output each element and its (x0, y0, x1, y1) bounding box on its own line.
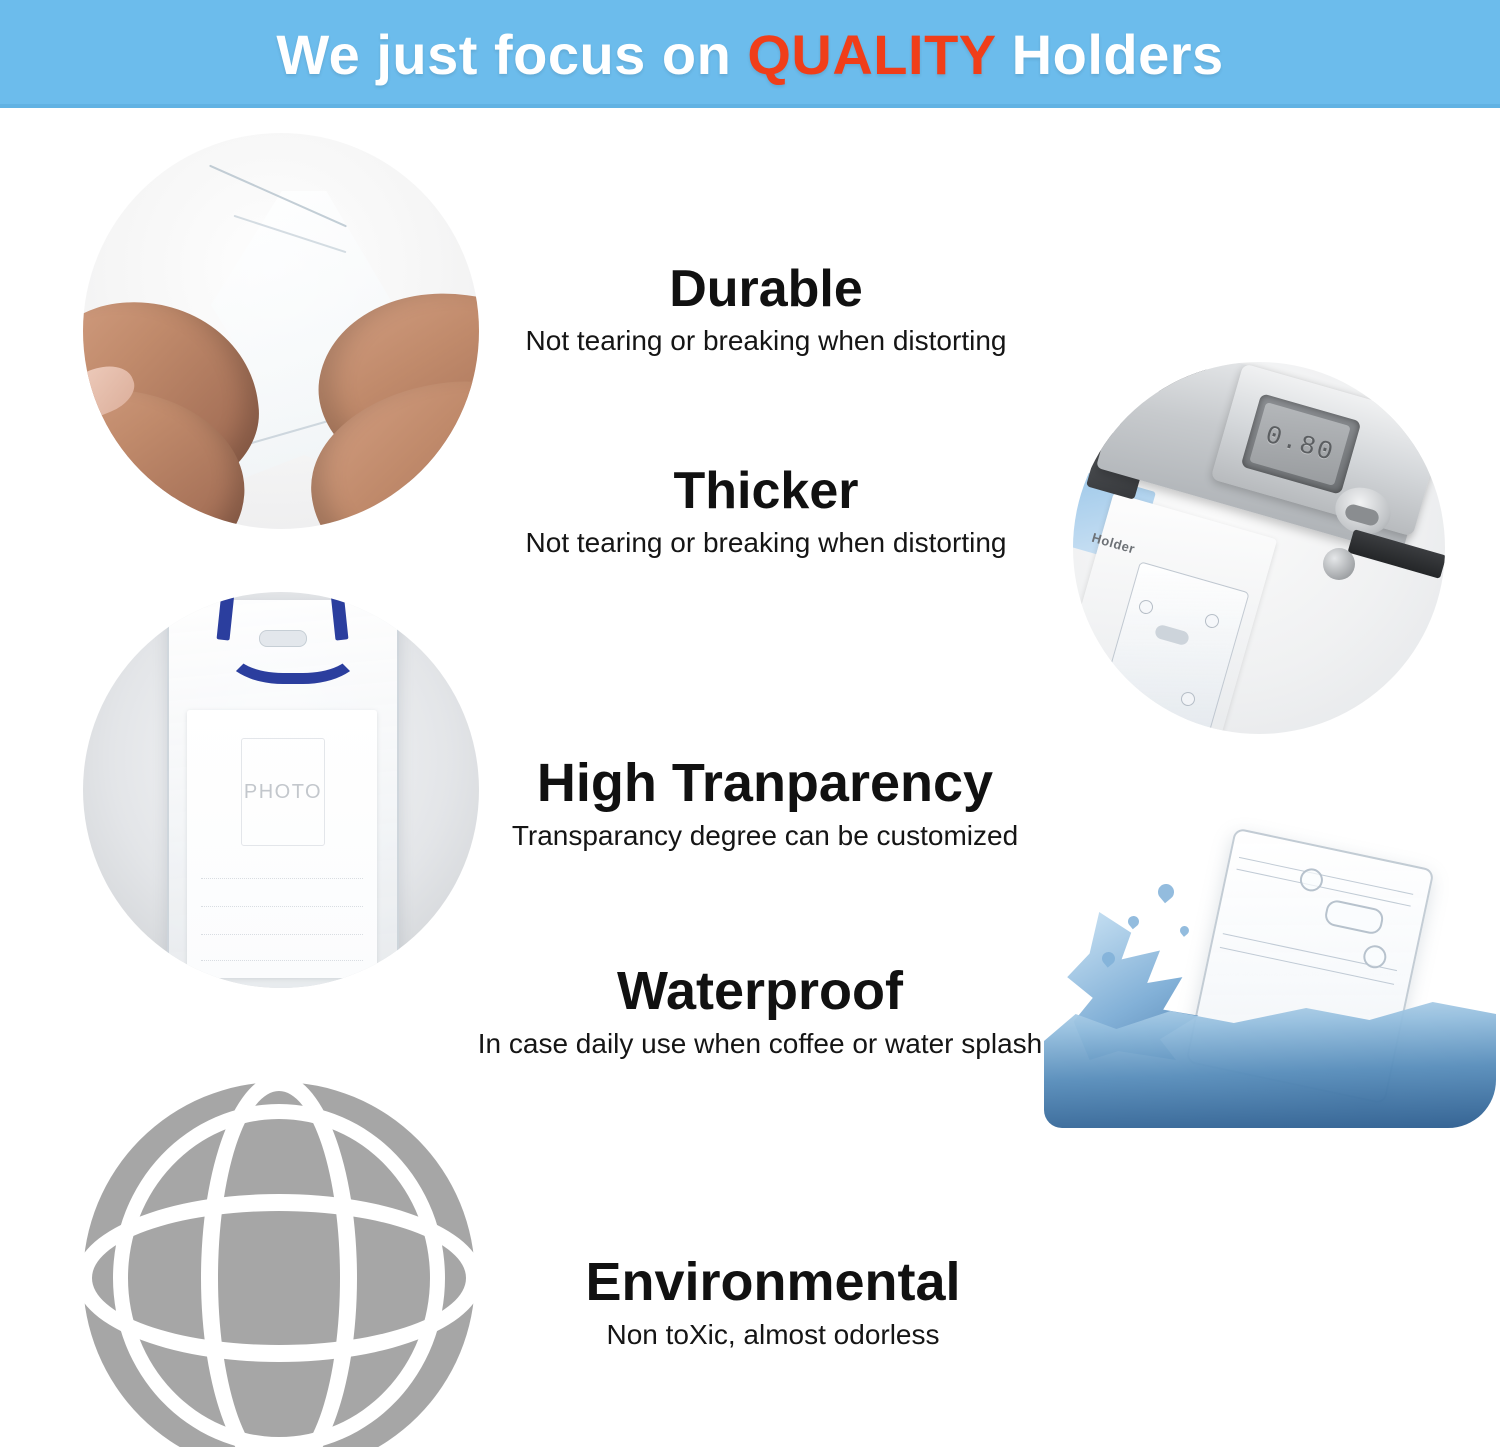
id-card: PHOTO (187, 710, 377, 978)
water-droplet (1155, 881, 1178, 904)
feature-environmental: Environmental Non toXic, almost odorless (548, 1254, 998, 1352)
hands-stretching-holder-photo (83, 133, 479, 529)
photo-label: PHOTO (244, 781, 322, 804)
environmental-globe-icon (83, 1082, 475, 1447)
banner-title: We just focus on QUALITY Holders (276, 22, 1223, 87)
feature-title: Durable (492, 262, 1040, 316)
feature-waterproof: Waterproof In case daily use when coffee… (455, 963, 1065, 1061)
feature-title: High Tranparency (470, 755, 1060, 811)
water-droplet (1126, 914, 1141, 929)
card-line (201, 906, 363, 907)
feature-transparency: High Tranparency Transparancy degree can… (470, 755, 1060, 853)
header-banner: We just focus on QUALITY Holders (0, 0, 1500, 108)
waterproof-splash-photo (1040, 830, 1500, 1160)
lanyard-cord-loop (223, 628, 363, 684)
card-line (201, 878, 363, 879)
feature-subtitle: In case daily use when coffee or water s… (455, 1026, 1065, 1061)
banner-text-before: We just focus on (276, 23, 747, 86)
digital-caliper-measuring-photo: Holder 0.80 (1073, 362, 1445, 734)
holder-slot (1323, 898, 1385, 935)
banner-text-after: Holders (996, 23, 1224, 86)
holder-hole (1361, 943, 1388, 970)
feature-thicker: Thicker Not tearing or breaking when dis… (492, 464, 1040, 560)
feature-title: Environmental (548, 1254, 998, 1310)
feature-subtitle: Not tearing or breaking when distorting (492, 323, 1040, 358)
feature-title: Thicker (492, 464, 1040, 518)
feature-subtitle: Non toXic, almost odorless (548, 1317, 998, 1352)
caliper-pin (1323, 548, 1355, 580)
badge-holder-with-lanyard-photo: PHOTO (83, 592, 479, 988)
product-feature-infographic: We just focus on QUALITY Holders Durable… (0, 0, 1500, 1447)
globe-outer-ring (113, 1104, 445, 1447)
feature-subtitle: Not tearing or breaking when distorting (492, 525, 1040, 560)
feature-title: Waterproof (455, 963, 1065, 1019)
water-droplet (1178, 924, 1191, 937)
banner-highlight-word: QUALITY (747, 23, 995, 86)
feature-subtitle: Transparancy degree can be customized (470, 818, 1060, 853)
photo-placeholder-box: PHOTO (241, 738, 325, 846)
card-line (201, 934, 363, 935)
feature-durable: Durable Not tearing or breaking when dis… (492, 262, 1040, 358)
banner-underline (0, 104, 1500, 108)
card-line (201, 960, 363, 961)
